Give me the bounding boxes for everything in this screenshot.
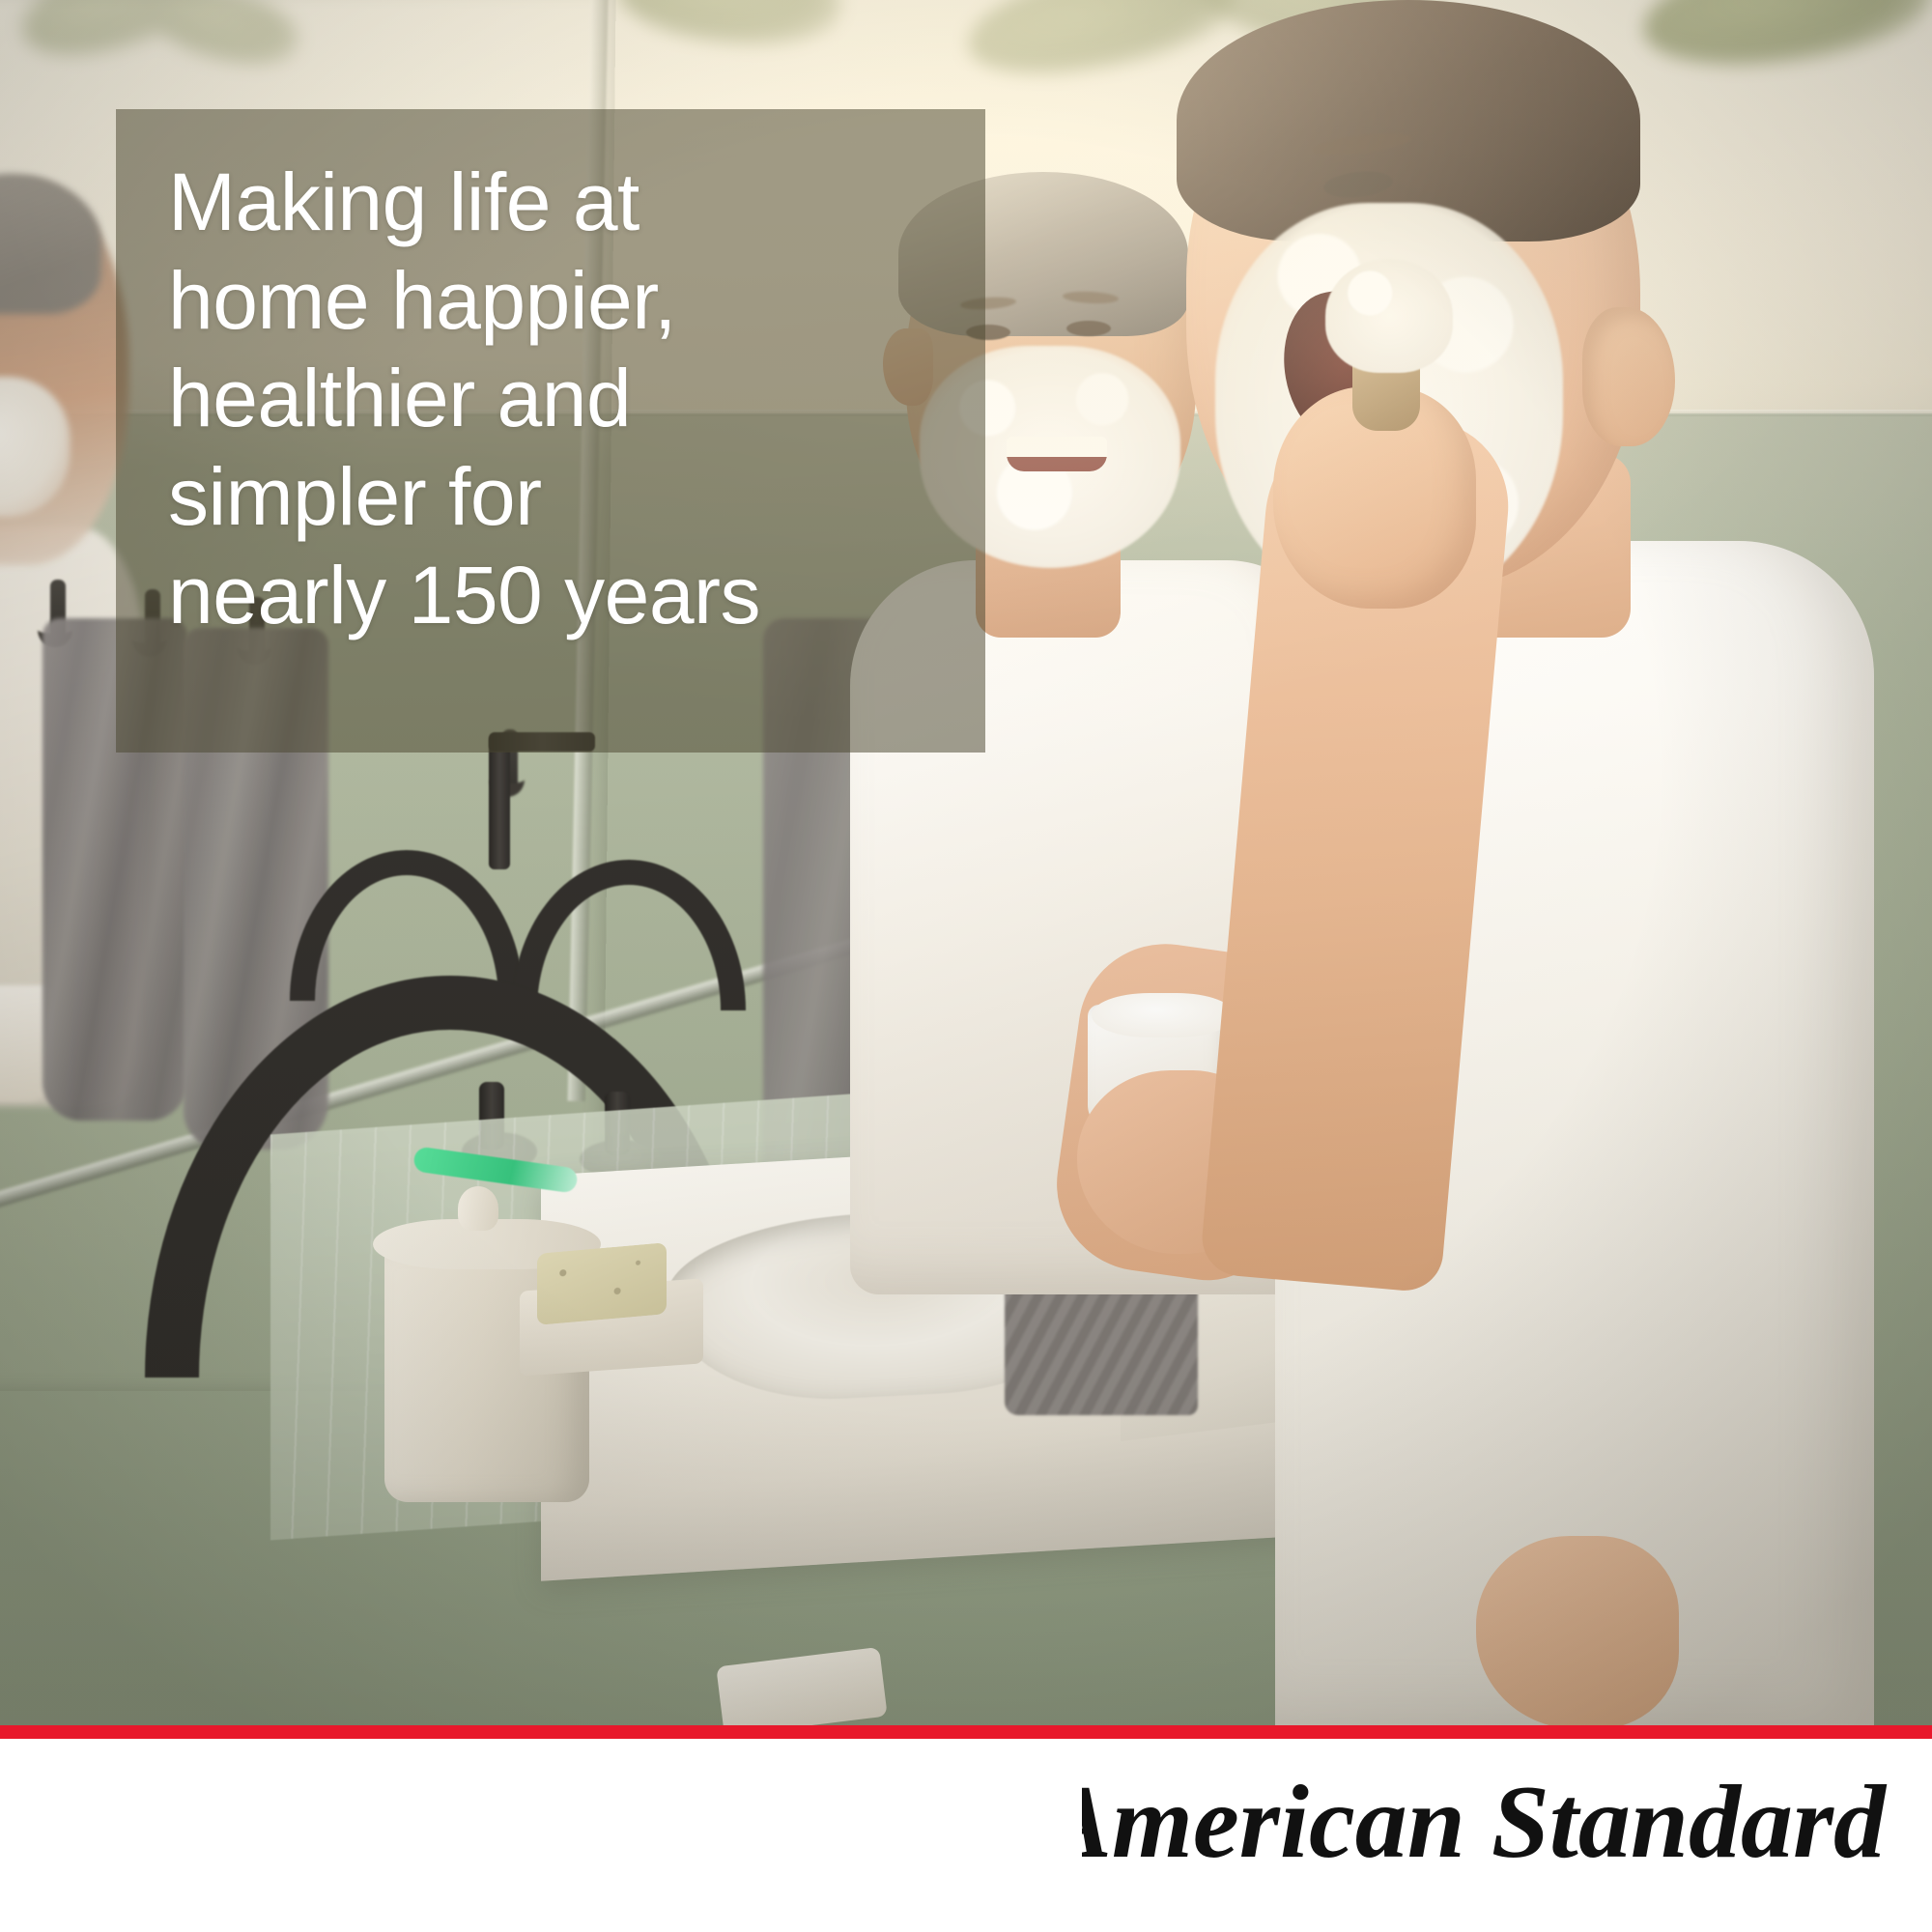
headline-line-2: home happier,	[168, 252, 931, 351]
headline-overlay-panel: Making life at home happier, healthier a…	[116, 109, 985, 753]
soap-bar	[537, 1242, 667, 1325]
father-eye-right	[1066, 321, 1111, 336]
headline-line-3: healthier and	[168, 350, 931, 448]
faucet-riser	[489, 734, 510, 869]
headline-line-4: simpler for	[168, 448, 931, 547]
reflected-man-hair	[0, 174, 102, 314]
footer-bar: American Standard	[0, 1739, 1932, 1932]
hero-photo: Making life at home happier, healthier a…	[0, 0, 1932, 1725]
advertisement-root: Making life at home happier, healthier a…	[0, 0, 1932, 1932]
american-standard-logo: American Standard	[1082, 1764, 1893, 1884]
headline-line-5: nearly 150 years	[168, 547, 931, 645]
headline-line-1: Making life at	[168, 154, 931, 252]
shaving-cream-foam	[1092, 993, 1235, 1037]
page-title: Making life at home happier, healthier a…	[168, 154, 931, 644]
father-smile	[1007, 437, 1107, 471]
son-lower-hand	[1476, 1536, 1679, 1725]
brand-divider-rule	[0, 1725, 1932, 1739]
logo-wordmark: American Standard	[1082, 1765, 1888, 1880]
canister-knob	[458, 1186, 498, 1231]
shaving-brush-foam	[1325, 259, 1453, 373]
